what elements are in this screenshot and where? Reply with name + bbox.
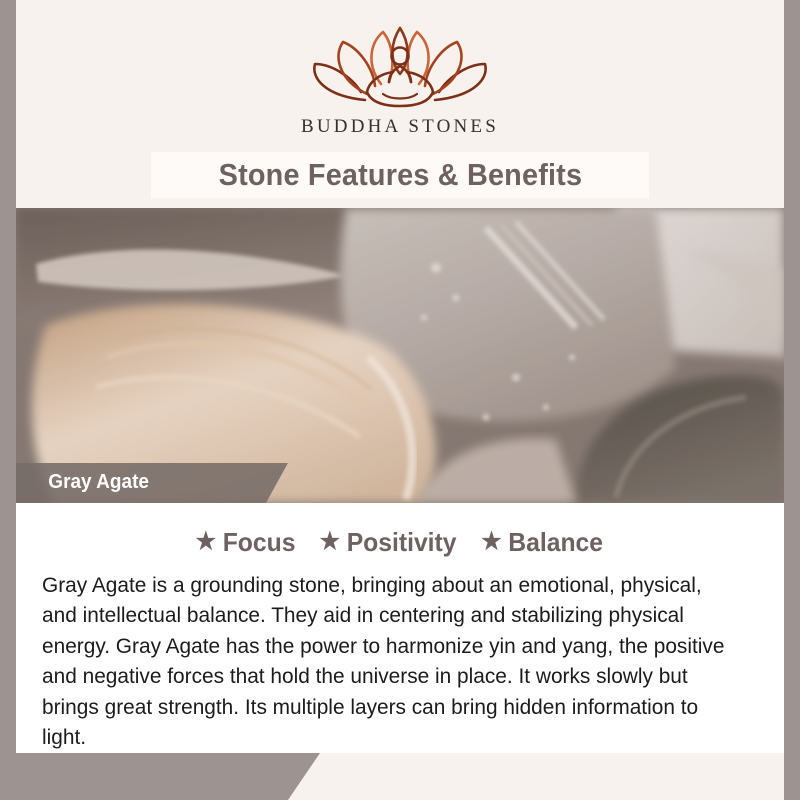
frame-border-left	[0, 0, 16, 800]
stone-name-badge: Gray Agate	[16, 463, 288, 503]
brand-name: BUDDHA STONES	[16, 116, 784, 138]
stone-photo-image	[16, 208, 784, 503]
keyword-label: Balance	[509, 527, 604, 558]
brand-header: BUDDHA STONES	[16, 0, 784, 138]
star-icon: ★	[320, 530, 340, 554]
corner-decoration-bottom-left	[0, 753, 320, 800]
keyword-label: Positivity	[347, 527, 457, 558]
stone-name: Gray Agate	[16, 471, 149, 494]
star-icon: ★	[482, 530, 502, 554]
star-icon: ★	[196, 530, 216, 554]
keyword-positivity: ★ Positivity	[320, 527, 457, 558]
frame-border-right	[784, 0, 800, 800]
stone-description-text: Gray Agate is a grounding stone, bringin…	[42, 570, 737, 753]
keyword-label: Focus	[223, 527, 296, 558]
keyword-balance: ★ Balance	[482, 527, 604, 558]
stone-description-section: ★ Focus ★ Positivity ★ Balance Gray Agat…	[16, 503, 784, 753]
keyword-list: ★ Focus ★ Positivity ★ Balance	[42, 527, 758, 558]
page-title: Stone Features & Benefits	[218, 157, 582, 193]
info-card: BUDDHA STONES Stone Features & Benefits	[16, 0, 784, 753]
stone-photo: Gray Agate	[16, 208, 784, 503]
keyword-focus: ★ Focus	[196, 527, 296, 558]
lotus-meditation-figure-icon	[305, 22, 495, 114]
section-title-banner: Stone Features & Benefits	[151, 152, 649, 198]
